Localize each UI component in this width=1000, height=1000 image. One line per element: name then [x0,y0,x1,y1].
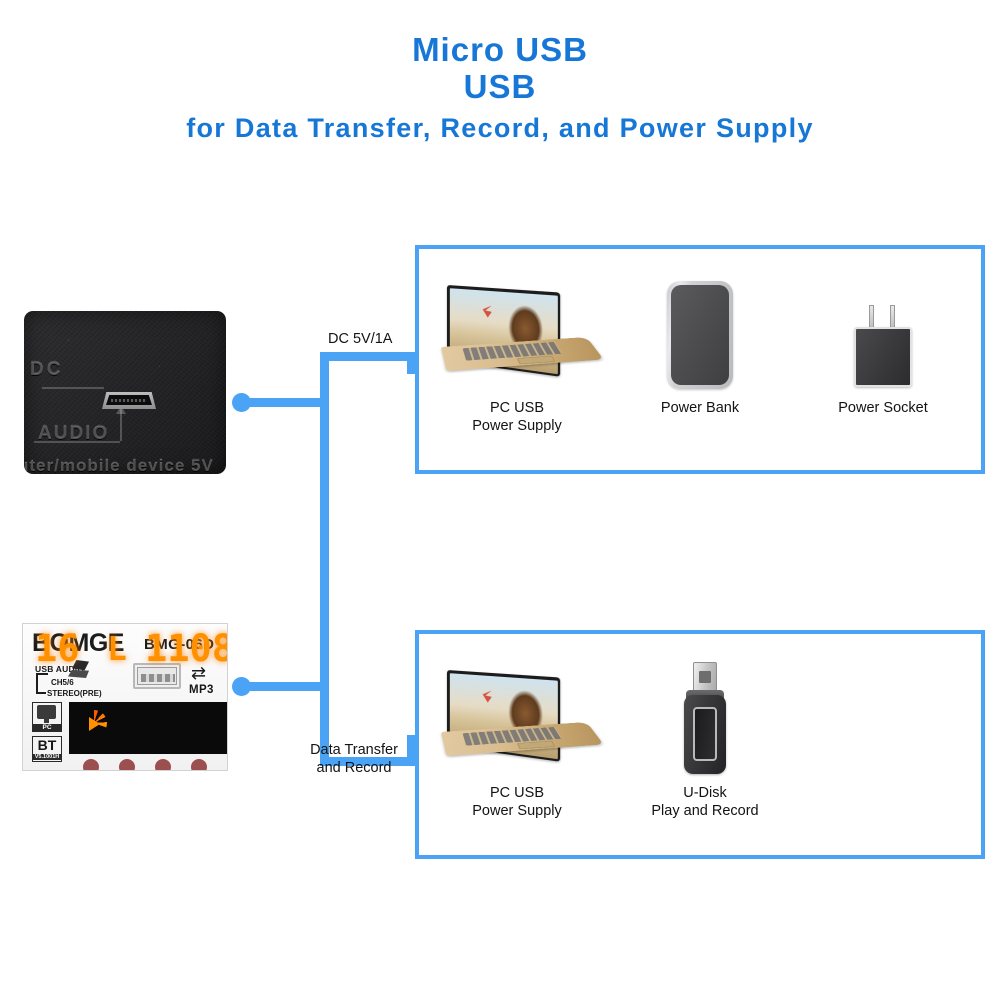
knob [83,759,99,771]
led-digits-mid: L [107,632,127,665]
micro-usb-port-cavity [106,395,152,405]
connector-top-horizontal [320,352,416,361]
connector-label-power: DC 5V/1A [328,331,392,349]
panel-item-pc-usb-power-2: PC USB Power Supply [419,664,615,820]
u-disk-body [684,695,726,774]
marking-leader-line-2 [34,441,120,443]
laptop-trackpad [517,356,556,365]
monitor-stand-icon [44,719,49,723]
connector-stub-bomge [241,682,323,691]
pc-badge-label: PC [32,724,62,731]
kite-icon [483,690,492,703]
knob-row [69,757,228,771]
infographic-canvas: Micro USB USB for Data Transfer, Record,… [0,0,1000,1000]
title-subtitle: for Data Transfer, Record, and Power Sup… [0,113,1000,143]
u-disk-art [680,662,730,774]
panel-item-label: U-Disk Play and Record [651,784,758,820]
mp3-label: MP3 [189,684,214,696]
power-supply-panel: PC USB Power Supply Power Bank [415,245,985,474]
knob [191,759,207,771]
panel-item-label: PC USB Power Supply [472,784,561,820]
marking-leader-line [42,387,104,389]
led-digits-right: 1108 [145,630,228,667]
charger-prong-right [890,305,895,329]
panel-item-power-socket: Power Socket [785,279,981,417]
marking-bottom: uter/mobile device 5V [24,456,214,474]
panel-item-label: Power Bank [661,399,739,417]
marking-arrow [120,407,122,441]
panel-item-u-disk: U-Disk Play and Record [615,664,795,820]
routing-bracket-top [36,673,48,675]
title-line-1: Micro USB [0,32,1000,69]
panel-item-power-bank: Power Bank [615,279,785,417]
laptop-art [439,285,595,389]
stereo-label: STEREO(PRE) [47,689,102,698]
device-photo-micro-usb-panel: DC AUDIO uter/mobile device 5V [24,311,226,474]
panel-item-pc-usb-power: PC USB Power Supply [419,279,615,435]
device-photo-bomge-panel: BOMGE BMG-06D USB AUDIO CH5/6 STEREO(PRE… [22,623,228,771]
u-disk-window [693,707,717,761]
led-play-icon [89,717,100,731]
laptop-trackpad [517,741,556,750]
data-record-panel: PC USB Power Supply U-Disk Play and Reco… [415,630,985,859]
charger-art [848,305,918,389]
laptop-art [439,670,595,774]
charger-body [854,327,912,387]
channel-label: CH5/6 [51,678,74,687]
bt-badge-sublabel: V5.1001H [32,754,62,760]
panel-item-label: PC USB Power Supply [472,399,561,435]
connector-trunk-vertical [320,352,329,766]
title-line-2: USB [0,69,1000,106]
marking-dc: DC [30,359,63,381]
laptop-glyph-base-icon [68,670,89,678]
charger-prong-left [869,305,874,329]
monitor-icon [37,705,56,719]
panel-item-label: Power Socket [838,399,927,417]
led-digits-left: 16 [35,630,80,667]
routing-bracket [36,673,38,694]
connector-label-data: Data Transfer and Record [304,742,404,777]
kite-icon [483,305,492,318]
knob [119,759,135,771]
knob [155,759,171,771]
power-bank-face [671,285,729,385]
power-bank-art [667,281,733,389]
page-title: Micro USB USB for Data Transfer, Record,… [0,32,1000,143]
connector-stub-micro-usb [241,398,323,407]
routing-bracket-bottom [36,692,46,694]
bt-badge-label: BT [35,737,59,753]
